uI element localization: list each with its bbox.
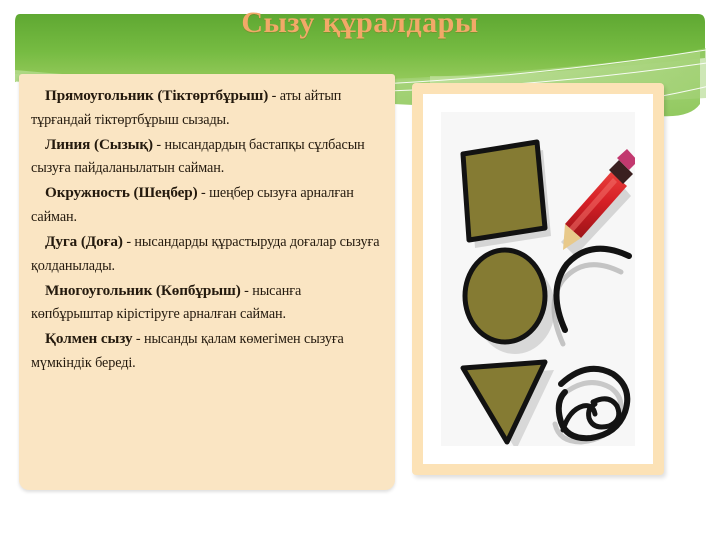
definition-term: Прямоугольник (Тіктөртбұрыш) [45, 87, 268, 104]
definition-freehand: Қолмен сызу - нысанды қалам көмегімен сы… [31, 327, 385, 375]
arc-shape [554, 249, 629, 344]
arc-body [556, 249, 629, 330]
definition-line: Линия (Сызық) - нысандардың бастапқы сұл… [31, 133, 385, 181]
definition-rectangle: Прямоугольник (Тіктөртбұрыш) - аты айтып… [31, 84, 385, 132]
definition-polygon: Многоугольник (Көпбұрыш) - нысанға көпбұ… [31, 279, 385, 327]
definition-term: Линия (Сызық) [45, 136, 153, 153]
page-title: Сызу құралдары [0, 6, 720, 40]
definition-term: Қолмен сызу [45, 330, 132, 347]
definition-arc: Дуга (Доға) - нысандарды құрастыруда доғ… [31, 230, 385, 278]
pencil-icon [557, 149, 635, 256]
ellipse-body [465, 250, 545, 342]
definitions-panel: Прямоугольник (Тіктөртбұрыш) - аты айтып… [19, 74, 395, 490]
definition-term: Дуга (Доға) [45, 233, 123, 250]
definition-term: Окружность (Шеңбер) [45, 184, 198, 201]
freeform-scribble-shape [555, 369, 627, 442]
illustration-card [412, 83, 664, 475]
rectangle-shape [463, 142, 551, 248]
definition-circle: Окружность (Шеңбер) - шеңбер сызуға арна… [31, 181, 385, 229]
rectangle-body [463, 142, 545, 240]
ellipse-shape [465, 250, 555, 354]
triangle-shape [463, 362, 554, 446]
definition-term: Многоугольник (Көпбұрыш) [45, 282, 241, 299]
drawing-tools-illustration [441, 112, 635, 446]
shapes-canvas [441, 112, 635, 446]
slide-canvas: Сызу құралдары Прямоугольник (Тіктөртбұр… [0, 0, 720, 540]
illustration-card-inner [423, 94, 653, 464]
